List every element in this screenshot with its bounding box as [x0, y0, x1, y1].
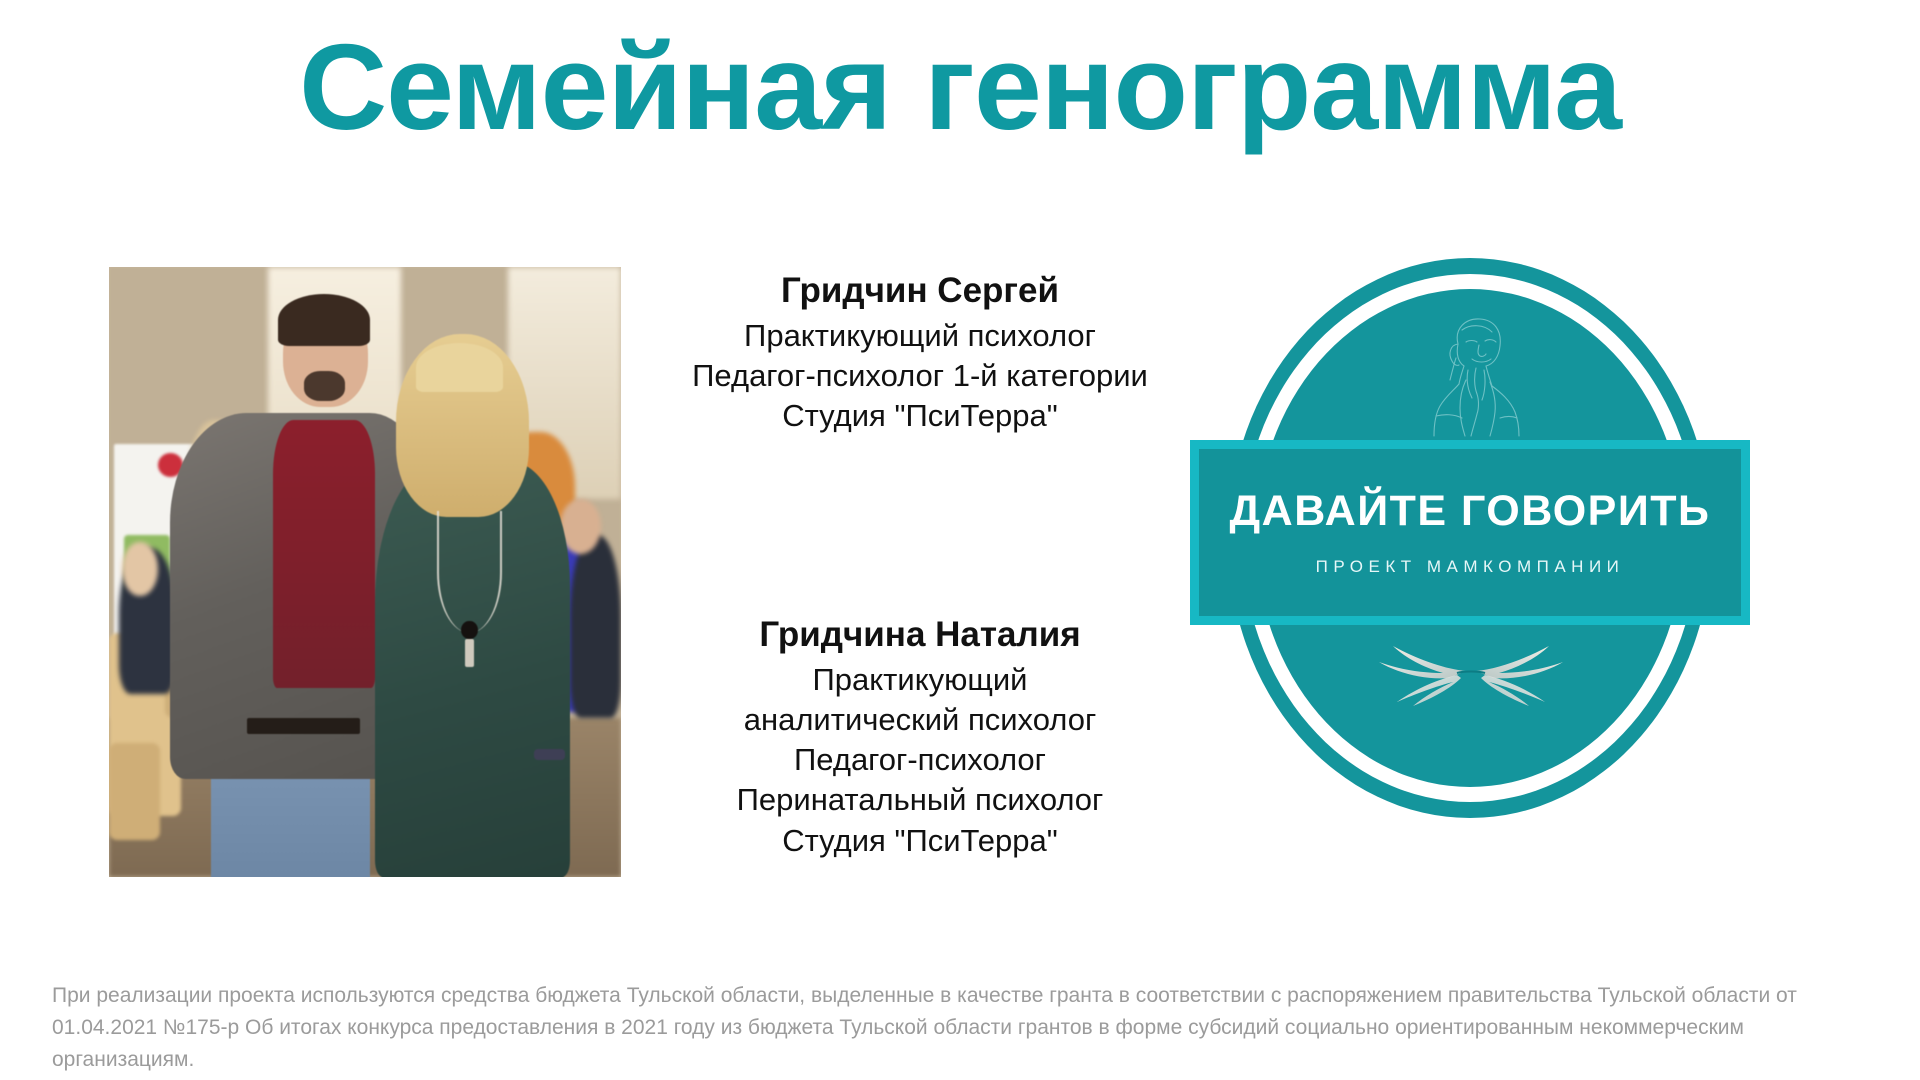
photo-woman-necklace: [437, 511, 502, 633]
page-title: Семейная генограмма: [0, 22, 1920, 154]
bio-line-natalia-1: Практикующий: [640, 660, 1200, 700]
couple-photo: [109, 267, 621, 877]
bio-name-sergey: Гридчин Сергей: [640, 268, 1200, 314]
photo-woman-fringe: [416, 343, 503, 392]
bio-block-sergey: Гридчин Сергей Практикующий психолог Пед…: [640, 268, 1200, 436]
photo-background-person: [570, 535, 621, 718]
photo-background-person: [122, 542, 158, 597]
bio-line-natalia-2: аналитический психолог: [640, 700, 1200, 740]
logo-banner-title: ДАВАЙТЕ ГОВОРИТЬ: [1230, 490, 1711, 533]
photo-woman-pendant-bar: [465, 639, 473, 666]
bio-name-natalia: Гридчина Наталия: [640, 612, 1200, 658]
photo-man-beard: [304, 371, 345, 402]
bio-line-sergey-2: Педагог-психолог 1-й категории: [640, 356, 1200, 396]
photo-chair: [109, 743, 160, 841]
bio-block-natalia: Гридчина Наталия Практикующий аналитичес…: [640, 612, 1200, 861]
photo-woman-pendant-bead: [461, 621, 477, 639]
photo-man-shirt: [273, 420, 375, 688]
project-logo: ДАВАЙТЕ ГОВОРИТЬ ПРОЕКТ МАМКОМПАНИИ: [1190, 258, 1750, 818]
wings-icon: [1353, 640, 1589, 710]
photo-man-hair: [278, 294, 370, 346]
photo-woman-bracelet: [534, 749, 565, 760]
woman-silhouette-icon: [1422, 314, 1532, 439]
bio-line-sergey-3: Студия "ПсиТерра": [640, 396, 1200, 436]
bio-line-natalia-5: Студия "ПсиТерра": [640, 821, 1200, 861]
photo-scene: [109, 267, 621, 877]
grant-disclaimer: При реализации проекта используются сред…: [52, 980, 1870, 1076]
bio-line-natalia-3: Педагог-психолог: [640, 740, 1200, 780]
logo-banner-subtitle: ПРОЕКТ МАМКОМПАНИИ: [1316, 558, 1625, 575]
bio-line-sergey-1: Практикующий психолог: [640, 316, 1200, 356]
bio-line-natalia-4: Перинатальный психолог: [640, 780, 1200, 820]
photo-man-belt: [247, 718, 360, 734]
logo-banner: ДАВАЙТЕ ГОВОРИТЬ ПРОЕКТ МАМКОМПАНИИ: [1199, 449, 1741, 616]
